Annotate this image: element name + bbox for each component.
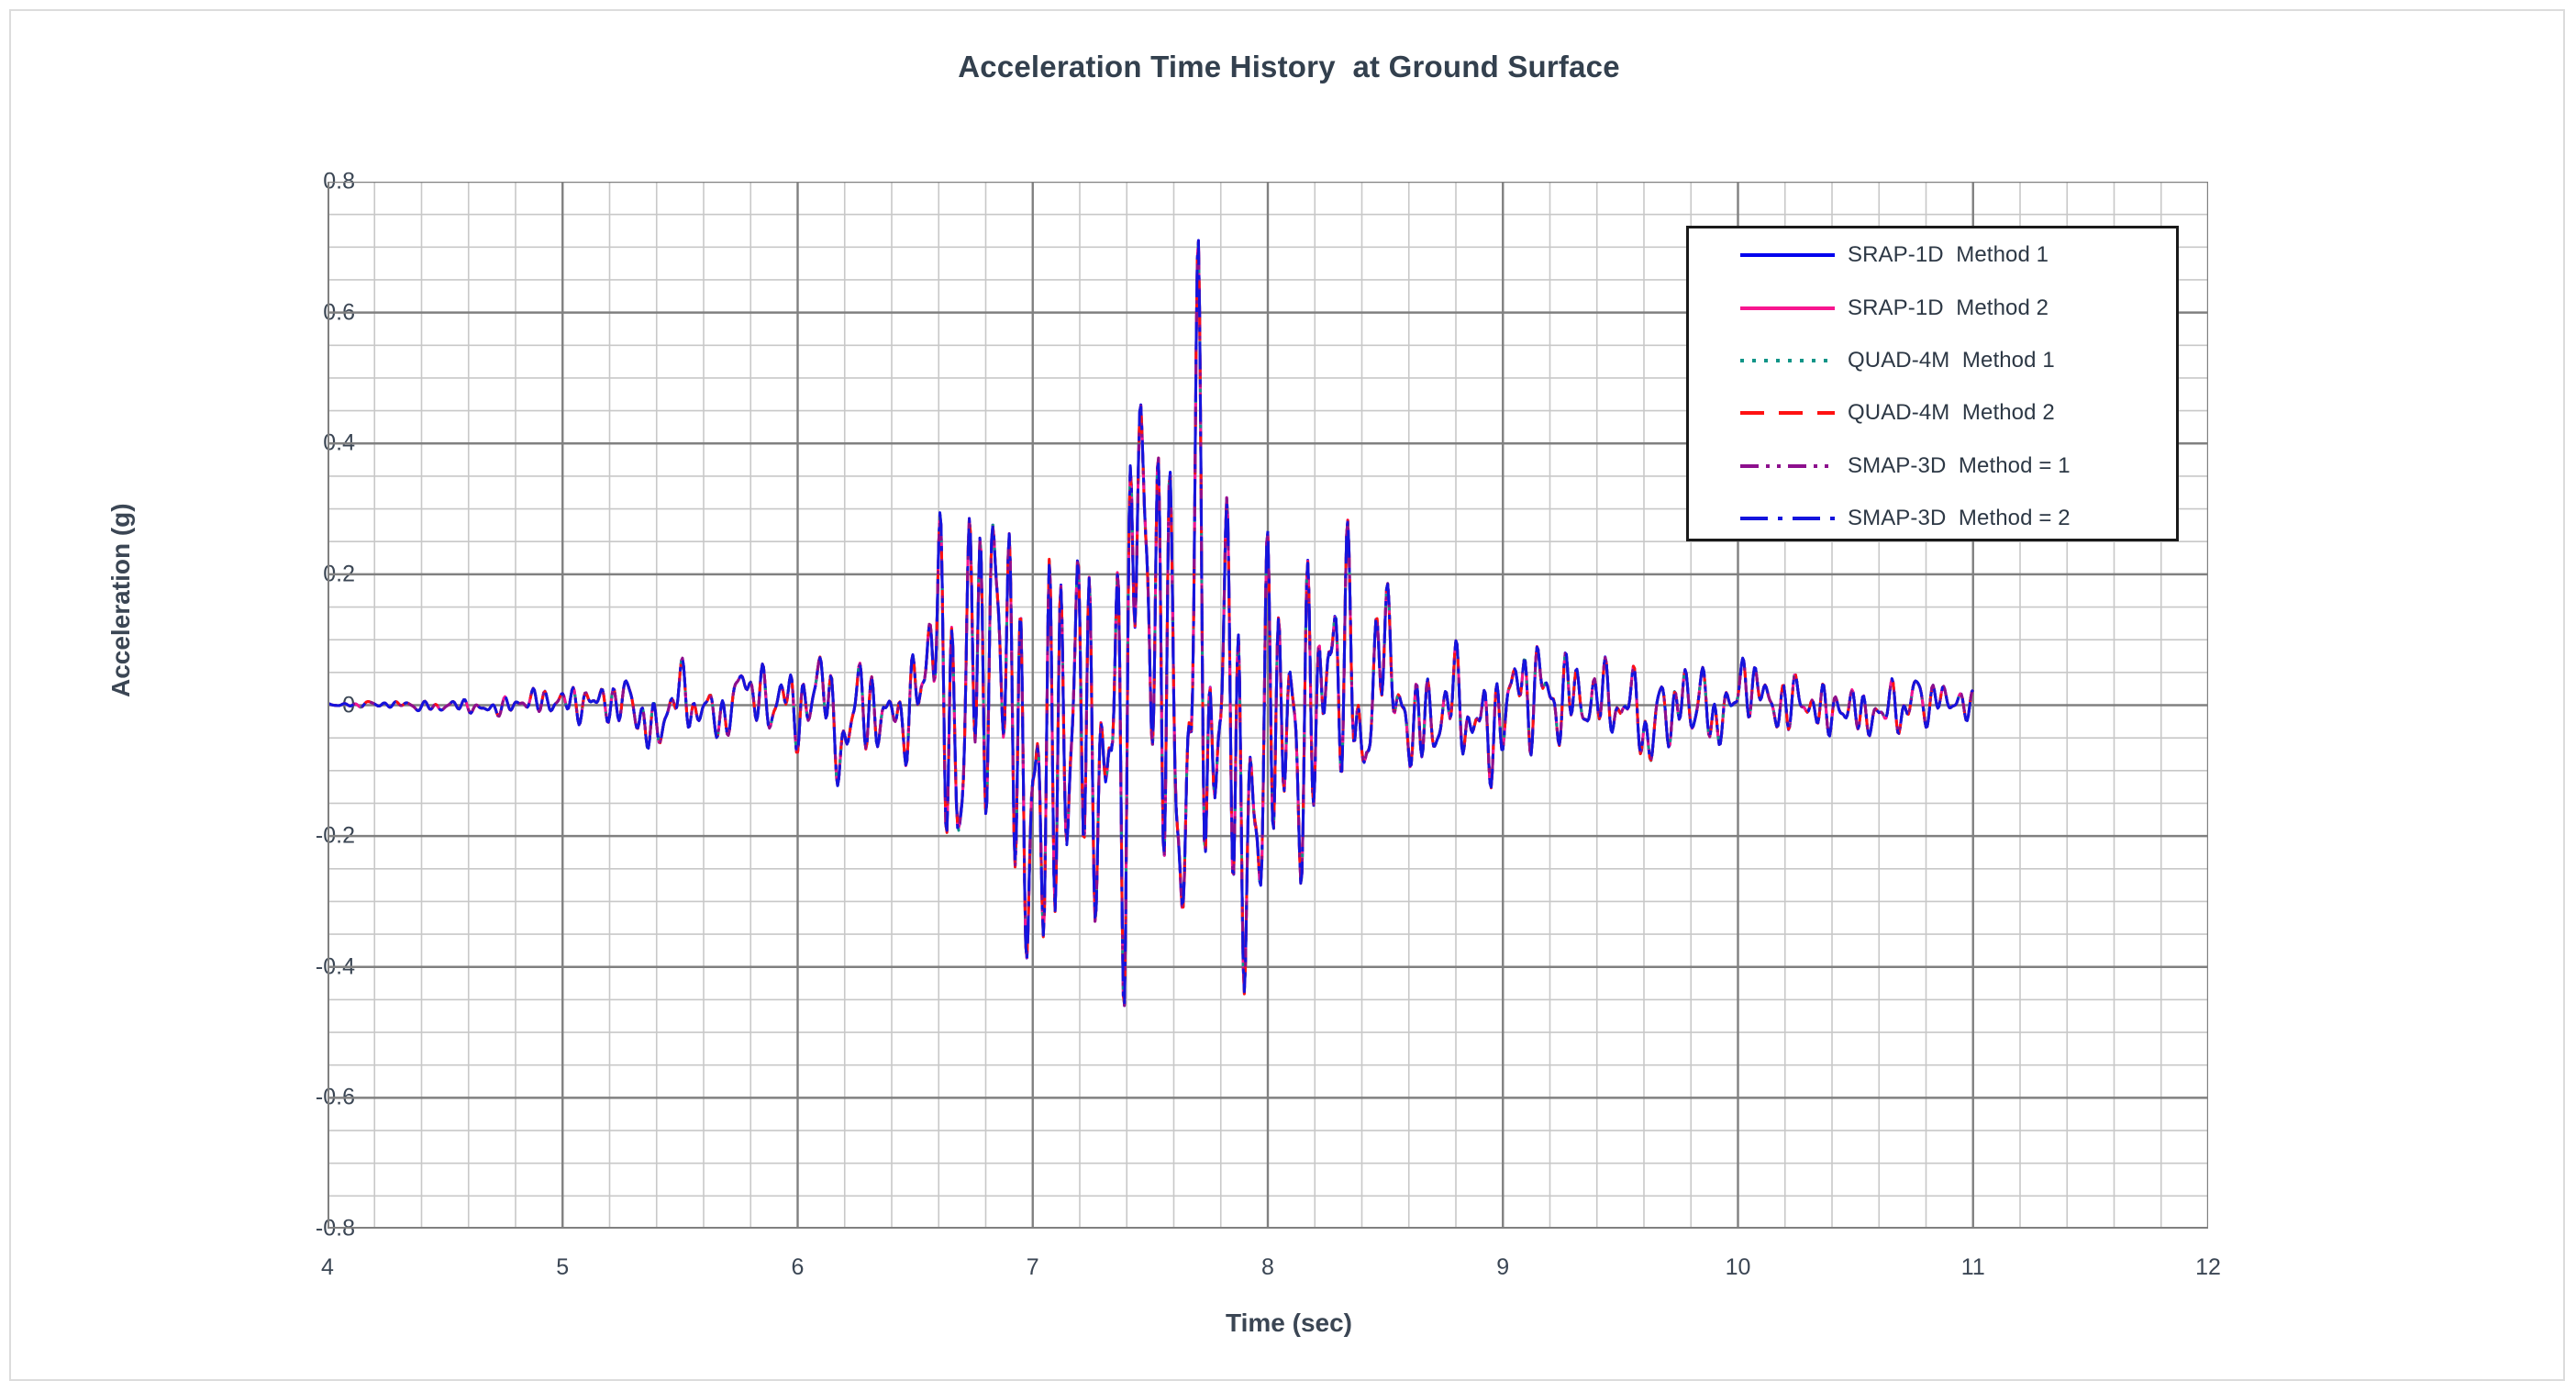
legend-item[interactable]: QUAD-4M Method 2 [1689,398,2182,429]
x-tick-label: 5 [507,1254,617,1281]
x-tick-label: 7 [978,1254,1088,1281]
x-axis-title: Time (sec) [11,1308,2567,1338]
legend-item-label: SMAP-3D Method = 1 [1848,453,2071,479]
legend-item[interactable]: QUAD-4M Method 1 [1689,345,2182,375]
x-tick-label: 12 [2153,1254,2263,1281]
legend-line-swatch-icon [1739,509,1836,528]
chart-frame: Acceleration Time History at Ground Surf… [9,9,2565,1381]
legend-line-swatch-icon [1739,457,1836,475]
legend-item-label: QUAD-4M Method 2 [1848,400,2055,426]
x-tick-label: 6 [743,1254,853,1281]
legend-item-label: QUAD-4M Method 1 [1848,348,2055,373]
y-axis-title: Acceleration (g) [106,503,136,697]
x-tick-label: 11 [1918,1254,2028,1281]
legend-line-swatch-icon [1739,246,1836,264]
legend-item-label: SRAP-1D Method 1 [1848,242,2049,268]
legend-item[interactable]: SRAP-1D Method 1 [1689,240,2182,271]
legend-item[interactable]: SRAP-1D Method 2 [1689,293,2182,323]
legend-item[interactable]: SMAP-3D Method = 2 [1689,503,2182,533]
legend-line-swatch-icon [1739,351,1836,370]
legend-item[interactable]: SMAP-3D Method = 1 [1689,451,2182,481]
legend-line-swatch-icon [1739,299,1836,317]
x-tick-label: 8 [1213,1254,1323,1281]
legend-item-label: SRAP-1D Method 2 [1848,295,2049,321]
plot-wrapper: Acceleration (g) 0.80.60.40.20-0.2-0.4-0… [11,11,2567,1383]
legend-item-label: SMAP-3D Method = 2 [1848,506,2071,531]
x-tick-label: 9 [1448,1254,1558,1281]
legend-line-swatch-icon [1739,404,1836,422]
chart-legend[interactable]: SRAP-1D Method 1SRAP-1D Method 2QUAD-4M … [1686,226,2179,541]
x-tick-label: 10 [1683,1254,1793,1281]
x-tick-label: 4 [272,1254,383,1281]
